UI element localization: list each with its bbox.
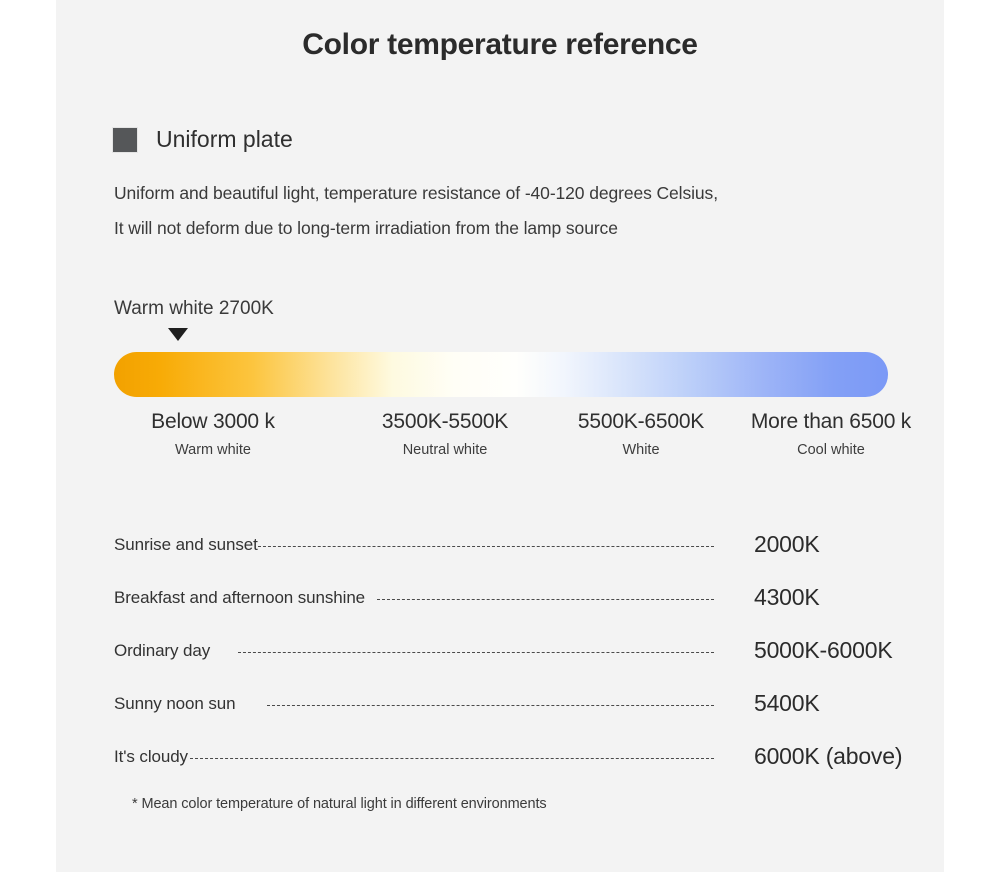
scale-column-cool-white: More than 6500 k Cool white (716, 410, 946, 458)
section-heading: Uniform plate (112, 126, 293, 153)
page-title: Color temperature reference (56, 28, 944, 62)
scale-column-warm-white: Below 3000 k Warm white (103, 410, 323, 458)
row-value: 4300K (734, 584, 944, 611)
row-value: 2000K (734, 531, 944, 558)
scale-name: Cool white (716, 442, 946, 458)
list-item: Breakfast and afternoon sunshine 4300K (114, 571, 944, 624)
section-title: Uniform plate (156, 126, 293, 153)
row-value: 5400K (734, 690, 944, 717)
footnote: * Mean color temperature of natural ligh… (132, 796, 547, 812)
pointer-label: Warm white 2700K (114, 298, 274, 320)
row-label: Ordinary day (114, 641, 210, 661)
row-label: Sunrise and sunset (114, 535, 258, 555)
scale-name: Warm white (103, 442, 323, 458)
scale-range: More than 6500 k (716, 410, 946, 434)
scale-range: Below 3000 k (103, 410, 323, 434)
row-label: Breakfast and afternoon sunshine (114, 588, 365, 608)
triangle-down-icon (168, 328, 188, 341)
list-item: Sunrise and sunset 2000K (114, 518, 944, 571)
description-line-1: Uniform and beautiful light, temperature… (114, 176, 914, 211)
row-value: 6000K (above) (734, 743, 944, 770)
row-label: Sunny noon sun (114, 694, 235, 714)
row-value: 5000K-6000K (734, 637, 944, 664)
environment-temperature-list: Sunrise and sunset 2000K Breakfast and a… (114, 518, 944, 783)
list-item: Ordinary day 5000K-6000K (114, 624, 944, 677)
plate-swatch-icon (112, 127, 138, 153)
reference-card: Color temperature reference Uniform plat… (56, 0, 944, 872)
section-description: Uniform and beautiful light, temperature… (114, 176, 914, 246)
row-label: It's cloudy (114, 747, 188, 767)
leader-dashes (377, 599, 714, 601)
color-temperature-gradient-bar (114, 352, 888, 397)
leader-dashes (267, 705, 714, 707)
leader-dashes (258, 546, 714, 548)
list-item: It's cloudy 6000K (above) (114, 730, 944, 783)
list-item: Sunny noon sun 5400K (114, 677, 944, 730)
description-line-2: It will not deform due to long-term irra… (114, 211, 914, 246)
leader-dashes (238, 652, 714, 654)
leader-dashes (190, 758, 714, 760)
